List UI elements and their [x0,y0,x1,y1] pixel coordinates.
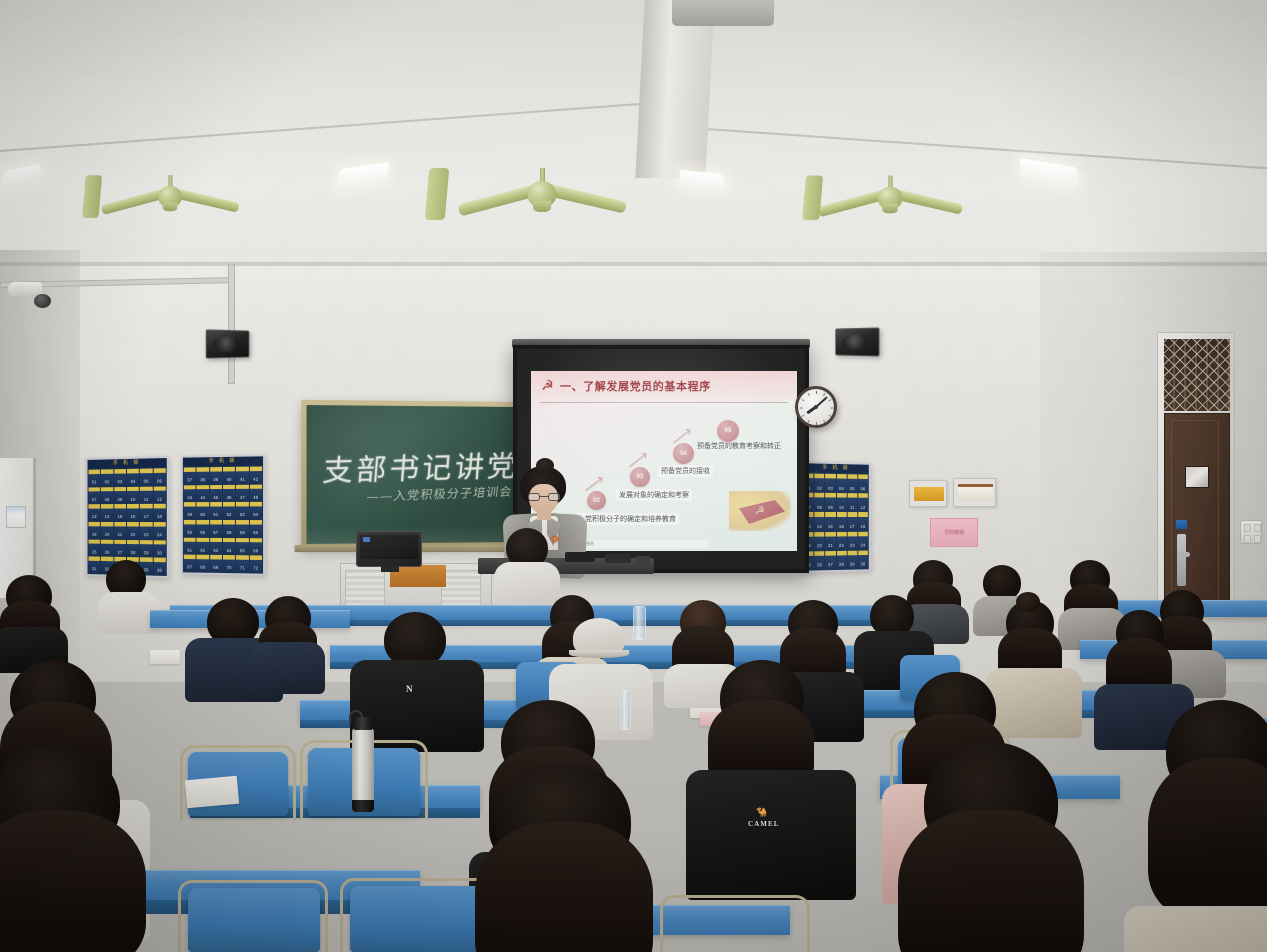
phone-pocket: 01 [88,470,100,487]
wall-speaker [835,327,879,356]
phone-pocket-number: 67 [184,566,196,570]
phone-pocket-number: 30 [153,551,165,555]
phone-pocket-number: 46 [223,496,235,500]
phone-pocket-number: 23 [847,544,857,548]
phone-pocket: 15 [114,504,126,521]
phone-pocket-number: 29 [847,563,857,567]
phone-pocket-number: 19 [88,533,100,537]
phone-pocket: 17 [140,504,152,521]
phone-pocket-number: 41 [236,478,248,482]
light-switch-panel[interactable] [1240,520,1262,544]
wall-clock [795,386,837,428]
transom-window [1164,339,1230,411]
phone-pocket: 11 [140,486,152,503]
step-label-04: 预备党员的接收 [658,465,713,477]
phone-pocket-number: 70 [223,566,235,570]
slide-title: 一、了解发展党员的基本程序 [560,378,711,394]
phone-pocket: 08 [101,487,113,504]
phone-pocket: 05 [140,468,152,485]
phone-pocket-number: 36 [153,569,165,574]
phone-pocket: 12 [153,486,165,503]
phone-pocket-number: 40 [223,478,235,482]
phone-pocket-grid: 0102030405060708091011121314151617181920… [802,472,869,570]
phone-pocket: 49 [184,502,196,519]
party-emblem-icon: ☭ [540,378,555,393]
phone-pocket-number: 52 [223,513,235,517]
phone-pocket-number: 43 [184,496,196,500]
phone-pocket-number: 05 [140,480,152,484]
phone-pocket: 46 [223,485,235,502]
phone-pocket-number: 56 [197,531,209,535]
phone-pocket-number: 62 [197,549,209,553]
phone-pocket: 26 [814,551,824,570]
phone-pocket-number: 45 [210,496,222,500]
phone-pocket: 04 [127,469,139,486]
phone-pocket-number: 03 [114,480,126,484]
phone-pocket: 52 [223,502,235,519]
phone-pocket-number: 51 [210,513,222,517]
phone-pocket-number: 24 [153,533,165,537]
ceiling-beam [635,0,714,178]
phone-pocket: 60 [250,520,262,537]
phone-pocket: 02 [814,474,824,492]
phone-pocket: 22 [836,532,846,550]
phone-pocket: 42 [250,466,262,483]
phone-pocket-grid: 3738394041424344454647484950515253545556… [183,465,263,573]
phone-pocket-number: 06 [153,480,165,484]
phone-pocket: 53 [236,502,248,519]
phone-pocket: 40 [223,467,235,484]
ceiling-fan [92,175,248,241]
phone-pocket-number: 38 [197,478,209,482]
phone-pocket: 16 [127,504,139,521]
phone-pocket-number: 15 [114,515,126,519]
phone-pocket-number: 21 [114,533,126,537]
notice-sheet [6,506,26,528]
tube-light [1019,158,1079,187]
phone-pocket-number: 63 [210,549,222,553]
ceiling-fan [813,175,968,242]
phone-pocket-number: 71 [236,567,248,571]
phone-pocket: 66 [250,538,262,555]
phone-pocket: 64 [223,538,235,555]
phone-pocket: 02 [101,469,113,486]
step-label-03: 发展对象的确定和考察 [616,489,692,501]
phone-pocket: 10 [127,486,139,503]
phone-pocket: 71 [236,555,248,572]
water-bottle [620,690,631,730]
phone-pocket-number: 15 [826,525,836,529]
phone-pocket: 29 [140,540,152,557]
phone-pocket-number: 02 [101,480,113,484]
phone-pocket: 62 [197,537,209,554]
phone-pocket-number: 22 [127,533,139,537]
phone-pocket-number: 44 [197,496,209,500]
phone-pocket-number: 21 [826,544,836,548]
water-bottle [352,728,374,802]
phone-pocket: 55 [184,520,196,537]
tube-light [679,170,725,191]
phone-pocket-number: 28 [836,563,846,567]
step-number-04: 04 [673,443,694,464]
phone-pocket-number: 69 [210,566,222,570]
podium-monitor [356,531,422,567]
phone-pocket-number: 60 [250,531,262,535]
phone-pocket: 24 [153,522,165,539]
phone-pocket-number: 49 [184,513,196,517]
wall-sign: 节约用电 [930,518,978,547]
phone-pocket: 19 [88,522,100,539]
phone-pocket-number: 06 [858,487,868,491]
phone-pocket: 18 [153,504,165,521]
phone-pocket-number: 54 [250,513,262,517]
step-number-05: 05 [717,420,739,442]
phone-pocket: 13 [88,504,100,520]
wall-speaker [206,329,250,358]
door-handle[interactable] [1177,534,1186,586]
phone-pocket: 30 [858,550,868,568]
phone-pocket: 30 [153,540,165,557]
phone-pocket-number: 16 [127,515,139,519]
chalkboard: 支部书记讲党课 ——入党积极分子培训会 [301,400,520,549]
phone-pocket: 23 [847,531,857,549]
phone-pocket: 03 [826,474,836,492]
phone-pocket-number: 22 [836,544,846,548]
security-camera-icon [8,282,54,312]
phone-pocket: 22 [127,522,139,539]
phone-pocket-number: 27 [826,563,836,567]
phone-pocket-number: 24 [858,544,868,548]
phone-pocket-number: 37 [184,478,196,482]
phone-pocket-number: 07 [88,498,100,502]
phone-pocket: 57 [210,520,222,537]
phone-pocket: 03 [114,469,126,486]
phone-pocket: 25 [88,539,100,556]
phone-pocket-number: 04 [836,487,846,491]
phone-pocket: 16 [836,512,846,530]
step-label-05: 预备党员的教育考察和转正 [697,441,781,451]
phone-pocket: 41 [236,467,248,484]
phone-pocket-number: 18 [858,525,868,529]
phone-pocket: 23 [140,522,152,539]
framed-picture [909,480,947,507]
bench-equipment [565,552,595,562]
phone-pocket: 50 [197,502,209,519]
phone-pocket-number: 26 [101,550,113,554]
phone-pocket: 31 [88,557,100,574]
phone-pocket: 68 [197,555,209,572]
ceiling-fan [437,168,647,254]
phone-pocket: 44 [197,485,209,502]
phone-pocket-number: 31 [88,568,100,572]
phone-pocket-board: 手 机 袋 3738394041424344454647484950515253… [181,454,265,575]
framed-picture [953,478,996,507]
party-badge-pin [552,536,558,542]
step-number-03: 03 [630,467,650,487]
ceiling-seam-right [706,128,1267,170]
phone-pocket: 14 [101,504,113,521]
electrical-conduit [228,264,235,384]
bench-equipment [636,556,650,564]
classroom-door[interactable] [1164,413,1230,609]
projector-mount [672,0,774,26]
phone-pocket: 69 [210,555,222,572]
phone-pocket-number: 66 [250,549,262,553]
phone-pocket: 48 [250,484,262,501]
ceiling-seam-left [0,102,658,152]
phone-pocket: 70 [223,555,235,572]
phone-pocket-number: 29 [140,551,152,555]
phone-pocket: 26 [101,539,113,556]
phone-pocket: 07 [88,487,100,504]
phone-pocket: 27 [114,540,126,557]
phone-pocket: 65 [236,538,248,555]
phone-pocket: 21 [826,532,836,550]
phone-pocket-number: 39 [210,478,222,482]
phone-pocket-number: 18 [153,515,165,519]
phone-pocket: 61 [184,537,196,554]
wall-ceiling-rail [0,262,1267,266]
phone-pocket-number: 20 [101,533,113,537]
phone-pocket-number: 13 [88,515,100,519]
phone-pocket: 20 [101,522,113,539]
phone-pocket: 36 [153,558,165,575]
phone-pocket-number: 58 [223,531,235,535]
paper-sheet [185,776,239,808]
phone-pocket-number: 12 [858,506,868,510]
phone-pocket-number: 10 [836,506,846,510]
phone-pocket: 28 [836,551,846,569]
jacket-brand-letter: N [406,684,414,694]
phone-pocket: 18 [858,512,868,530]
phone-pocket-number: 65 [236,549,248,553]
door-frame [1157,332,1235,614]
phone-pocket: 09 [114,487,126,504]
phone-pocket-number: 64 [223,549,235,553]
party-emblem-icon: ☭ [755,506,765,517]
phone-pocket-number: 30 [858,563,868,567]
phone-pocket: 72 [250,556,262,573]
phone-pocket: 54 [250,502,262,519]
phone-pocket-number: 26 [814,564,824,568]
phone-pocket: 28 [127,540,139,557]
phone-pocket-number: 53 [236,513,248,517]
phone-pocket: 15 [826,512,836,530]
step-label-02: 入党积极分子的确定和培养教育 [575,513,679,525]
phone-pocket-number: 11 [140,498,152,502]
phone-pocket-number: 14 [101,515,113,519]
phone-pocket-number: 11 [847,506,857,510]
phone-pocket-number: 61 [184,548,196,552]
wall-sign-text: 节约用电 [931,519,977,548]
phone-pocket-number: 68 [197,566,209,570]
phone-pocket-number: 04 [127,480,139,484]
phone-pocket-number: 27 [114,551,126,555]
phone-pocket: 21 [114,522,126,539]
paper-sheet [150,650,180,664]
phone-pocket-number: 42 [250,478,262,482]
phone-pocket-number: 72 [250,567,262,571]
chair-back [188,888,320,952]
phone-pocket: 04 [836,474,846,492]
phone-pocket-number: 12 [153,497,165,501]
phone-pocket-number: 02 [814,486,824,490]
chair-frame [660,895,810,952]
phone-pocket-number: 03 [826,486,836,490]
phone-pocket-number: 48 [250,496,262,500]
phone-pocket-board: 手 机 袋 0102030405060708091011121314151617… [800,461,870,573]
camel-logo-icon: 🐪 [756,808,767,817]
phone-pocket: 06 [153,468,165,485]
phone-pocket: 67 [184,555,196,572]
tube-light [337,162,390,188]
phone-pocket: 47 [236,484,248,501]
door-vision-panel [1185,466,1209,488]
tube-light [1,164,41,187]
phone-pocket: 51 [210,502,222,519]
phone-pocket: 43 [184,485,196,502]
phone-pocket-number: 28 [127,551,139,555]
phone-pocket-number: 57 [210,531,222,535]
phone-pocket-number: 09 [114,498,126,502]
phone-pocket: 11 [847,493,857,511]
phone-pocket: 27 [826,551,836,569]
phone-pocket: 56 [197,520,209,537]
phone-pocket: 58 [223,520,235,537]
phone-pocket-number: 23 [140,533,152,537]
phone-pocket-number: 17 [847,525,857,529]
phone-pocket-number: 50 [197,513,209,517]
phone-pocket: 63 [210,538,222,555]
phone-pocket-number: 17 [140,515,152,519]
party-flag-graphic: ☭ [729,491,791,531]
phone-pocket-number: 01 [88,481,100,485]
phone-pocket-number: 08 [814,506,824,510]
phone-pocket-number: 09 [826,506,836,510]
chair-back [350,886,482,952]
phone-pocket: 24 [858,531,868,549]
phone-pocket-number: 25 [88,550,100,554]
phone-pocket: 38 [197,467,209,484]
phone-pocket: 59 [236,520,248,537]
phone-pocket-number: 47 [236,496,248,500]
phone-pocket: 05 [847,474,857,492]
phone-pocket: 45 [210,485,222,502]
chalkboard-title: 支部书记讲党课 [321,442,515,490]
phone-pocket-number: 59 [236,531,248,535]
phone-pocket: 39 [210,467,222,484]
door-keypad-icon[interactable] [1176,520,1187,529]
phone-pocket: 17 [847,512,857,530]
phone-pocket: 14 [814,512,824,530]
phone-pocket-number: 20 [814,544,824,548]
phone-pocket-number: 05 [847,487,857,491]
phone-pocket: 29 [847,550,857,568]
bench-equipment [605,554,631,563]
phone-pocket-number: 16 [836,525,846,529]
phone-pocket: 06 [858,474,868,492]
phone-pocket-number: 10 [127,498,139,502]
classroom-photo: 手 机 袋 0102030405060708091011121314151617… [0,0,1267,952]
phone-pocket-number: 14 [814,525,824,529]
phone-pocket: 10 [836,493,846,511]
phone-pocket: 09 [826,493,836,511]
phone-pocket-number: 08 [101,498,113,502]
chalkboard-subtitle: ——入党积极分子培训会 [366,483,514,506]
phone-pocket: 37 [184,467,196,484]
glasses-icon [528,493,560,501]
water-bottle [633,606,646,640]
phone-pocket-number: 55 [184,531,196,535]
phone-pocket: 12 [858,493,868,511]
jacket-brand-text: CAMEL [748,820,780,828]
phone-pocket: 08 [814,493,824,511]
phone-pocket: 20 [814,532,824,550]
